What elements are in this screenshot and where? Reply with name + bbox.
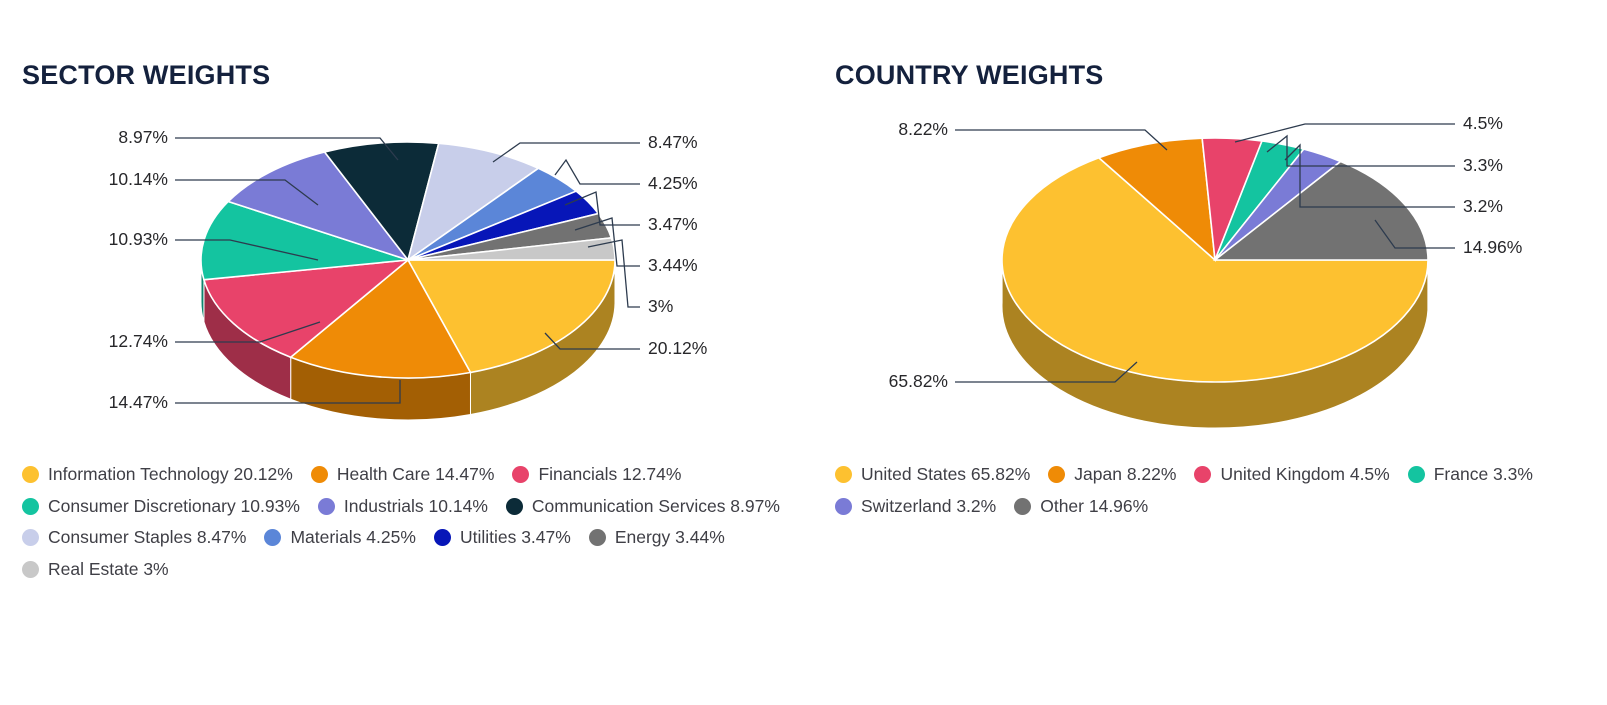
sector-legend-item[interactable]: Financials 12.74% [512, 466, 681, 484]
country-legend-rows: United States 65.82%Japan 8.22%United Ki… [835, 466, 1605, 529]
legend-item-label: Health Care 14.47% [337, 466, 495, 484]
country-legend-item[interactable]: United Kingdom 4.5% [1194, 466, 1389, 484]
legend-color-swatch-icon [264, 529, 281, 546]
legend-color-swatch-icon [22, 498, 39, 515]
page-title-sector: SECTOR WEIGHTS [22, 60, 270, 91]
sector-callout-label: 20.12% [648, 338, 707, 358]
legend-item-label: Materials 4.25% [290, 529, 415, 547]
sector-callout-label: 10.93% [109, 229, 168, 249]
country-pie-3d-top [1002, 138, 1428, 382]
sector-callout-label: 3% [648, 296, 673, 316]
legend-color-swatch-icon [311, 466, 328, 483]
page-title-country: COUNTRY WEIGHTS [835, 60, 1104, 91]
legend-item-label: Consumer Staples 8.47% [48, 529, 246, 547]
legend-color-swatch-icon [835, 466, 852, 483]
sector-callout-label: 3.44% [648, 255, 698, 275]
legend-color-swatch-icon [1408, 466, 1425, 483]
legend-item-label: Japan 8.22% [1074, 466, 1176, 484]
sector-legend-item[interactable]: Utilities 3.47% [434, 529, 571, 547]
legend-color-swatch-icon [1194, 466, 1211, 483]
country-callout-label: 14.96% [1463, 237, 1522, 257]
country-pie-chart: 8.22%65.82%4.5%3.3%3.2%14.96% [815, 100, 1607, 440]
sector-callout-label: 12.74% [109, 331, 168, 351]
sector-legend-item[interactable]: Communication Services 8.97% [506, 498, 780, 516]
country-legend-item[interactable]: Other 14.96% [1014, 498, 1148, 516]
legend-item-label: Information Technology 20.12% [48, 466, 293, 484]
sector-legend-item[interactable]: Industrials 10.14% [318, 498, 488, 516]
sector-callout-label: 8.97% [118, 127, 168, 147]
legend-item-label: Utilities 3.47% [460, 529, 571, 547]
legend-color-swatch-icon [22, 529, 39, 546]
sector-pie-chart: 8.97%10.14%10.93%12.74%14.47%8.47%4.25%3… [0, 100, 815, 440]
legend-item-label: Consumer Discretionary 10.93% [48, 498, 300, 516]
country-callout-label: 4.5% [1463, 113, 1503, 133]
legend-item-label: Energy 3.44% [615, 529, 725, 547]
country-legend-item[interactable]: Japan 8.22% [1048, 466, 1176, 484]
sector-callout-label: 8.47% [648, 132, 698, 152]
legend-color-swatch-icon [1014, 498, 1031, 515]
legend-item-label: France 3.3% [1434, 466, 1533, 484]
legend-color-swatch-icon [22, 466, 39, 483]
legend-color-swatch-icon [506, 498, 523, 515]
sector-legend-item[interactable]: Energy 3.44% [589, 529, 725, 547]
legend-item-label: Communication Services 8.97% [532, 498, 780, 516]
sector-leader-line [555, 160, 640, 184]
sector-pie-chart-area: 8.97%10.14%10.93%12.74%14.47%8.47%4.25%3… [0, 100, 815, 440]
legend-item-label: Real Estate 3% [48, 561, 169, 579]
sector-callout-label: 4.25% [648, 173, 698, 193]
country-callout-label: 65.82% [889, 371, 948, 391]
sector-legend-rows: Information Technology 20.12%Health Care… [22, 466, 812, 592]
sector-legend-item[interactable]: Materials 4.25% [264, 529, 415, 547]
country-legend-item[interactable]: United States 65.82% [835, 466, 1030, 484]
country-callout-label: 8.22% [898, 119, 948, 139]
legend-color-swatch-icon [512, 466, 529, 483]
legend-item-label: Financials 12.74% [538, 466, 681, 484]
sector-callout-label: 10.14% [109, 169, 168, 189]
sector-legend-item[interactable]: Real Estate 3% [22, 561, 169, 579]
sector-legend-item[interactable]: Consumer Discretionary 10.93% [22, 498, 300, 516]
country-legend: United States 65.82%Japan 8.22%United Ki… [815, 466, 1605, 529]
legend-color-swatch-icon [434, 529, 451, 546]
legend-item-label: United Kingdom 4.5% [1220, 466, 1389, 484]
country-weights-panel: COUNTRY WEIGHTS 8.22%65.82%4.5%3.3%3.2%1… [815, 0, 1607, 705]
country-leader-line [1235, 124, 1455, 142]
legend-color-swatch-icon [318, 498, 335, 515]
sector-legend-item[interactable]: Health Care 14.47% [311, 466, 495, 484]
legend-color-swatch-icon [835, 498, 852, 515]
sector-weights-panel: SECTOR WEIGHTS 8.97%10.14%10.93%12.74%14… [0, 0, 815, 705]
country-callout-label: 3.2% [1463, 196, 1503, 216]
sector-pie-3d-top [201, 142, 615, 378]
legend-item-label: Switzerland 3.2% [861, 498, 996, 516]
sector-callout-label: 3.47% [648, 214, 698, 234]
legend-color-swatch-icon [589, 529, 606, 546]
country-callout-label: 3.3% [1463, 155, 1503, 175]
country-pie-chart-area: 8.22%65.82%4.5%3.3%3.2%14.96% [815, 100, 1607, 440]
sector-legend: Information Technology 20.12%Health Care… [0, 466, 812, 592]
sector-callout-label: 14.47% [109, 392, 168, 412]
country-legend-item[interactable]: France 3.3% [1408, 466, 1533, 484]
legend-color-swatch-icon [22, 561, 39, 578]
legend-item-label: Industrials 10.14% [344, 498, 488, 516]
legend-item-label: United States 65.82% [861, 466, 1030, 484]
legend-item-label: Other 14.96% [1040, 498, 1148, 516]
legend-color-swatch-icon [1048, 466, 1065, 483]
sector-legend-item[interactable]: Information Technology 20.12% [22, 466, 293, 484]
sector-legend-item[interactable]: Consumer Staples 8.47% [22, 529, 246, 547]
country-legend-item[interactable]: Switzerland 3.2% [835, 498, 996, 516]
